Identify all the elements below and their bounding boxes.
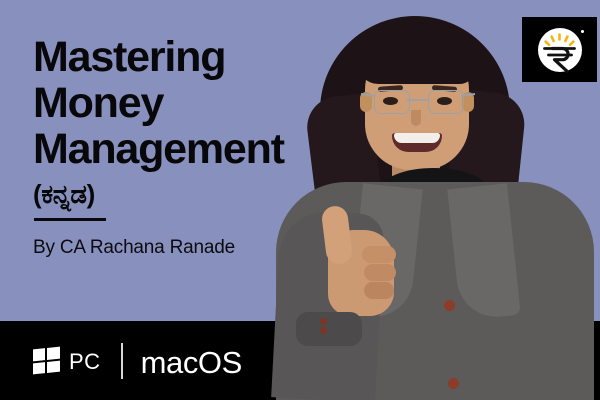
windows-flag-icon: [33, 347, 60, 376]
pc-label: PC: [69, 351, 101, 373]
teeth: [394, 133, 440, 143]
finger-middle: [364, 264, 396, 281]
sleeve-cuff: [296, 312, 362, 346]
blazer-button-lower: [448, 378, 459, 389]
macos-label: macOS: [141, 347, 242, 378]
mouth: [392, 133, 442, 152]
platform-list: PC macOS: [33, 339, 242, 383]
nose: [411, 110, 421, 126]
cuff-button-top: [320, 318, 327, 325]
finger-index: [362, 246, 396, 263]
blazer-button-upper: [444, 300, 455, 311]
rupee-sunrise-icon: [522, 17, 597, 82]
eyeglass-bridge: [407, 99, 429, 101]
divider-rule: [34, 218, 106, 221]
cuff-button-bottom: [320, 327, 327, 334]
eyeglass-lens-right: [428, 90, 464, 114]
trademark-dot: [581, 30, 584, 33]
finger-ring: [364, 282, 394, 299]
eyeglass-lens-left: [374, 90, 410, 114]
course-thumbnail-poster: Mastering Money Management (ಕನ್ನಡ) By CA…: [0, 0, 600, 400]
platform-divider: [121, 343, 123, 379]
hair-fringe: [358, 28, 476, 84]
brand-logo-tile: [522, 17, 597, 82]
